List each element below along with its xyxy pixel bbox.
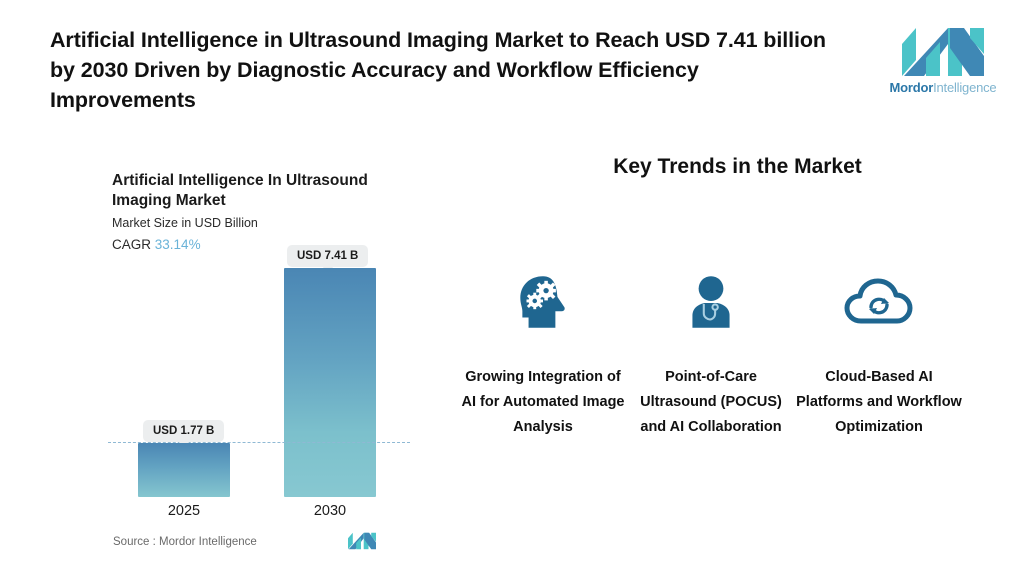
trend-label-1: Growing Integration of AI for Automated … — [458, 365, 628, 440]
trend-item-3: Cloud-Based AI Platforms and Workflow Op… — [794, 265, 964, 440]
doctor-stethoscope-icon — [626, 265, 796, 341]
cloud-sync-icon — [794, 265, 964, 341]
head-gears-ai-icon — [458, 265, 628, 341]
chart-source: Source : Mordor Intelligence — [113, 536, 257, 548]
trend-item-2: Point-of-Care Ultrasound (POCUS) and AI … — [626, 265, 796, 440]
source-mordor-intelligence-mark-icon — [348, 531, 376, 551]
page-header: Artificial Intelligence in Ultrasound Im… — [0, 0, 1035, 125]
trends-title: Key Trends in the Market — [440, 155, 1035, 179]
trend-label-2: Point-of-Care Ultrasound (POCUS) and AI … — [626, 365, 796, 440]
bar-2025[interactable] — [138, 443, 230, 497]
chart-panel: Artificial Intelligence In Ultrasound Im… — [0, 125, 440, 570]
brand-name: MordorIntelligence — [878, 80, 1008, 95]
x-axis-label-2030: 2030 — [260, 503, 400, 519]
trends-panel: Key Trends in the Market — [440, 125, 1035, 570]
trend-item-1: Growing Integration of AI for Automated … — [458, 265, 628, 440]
page-title: Artificial Intelligence in Ultrasound Im… — [50, 25, 850, 115]
mordor-intelligence-mark-icon — [902, 28, 984, 76]
x-axis-label-2025: 2025 — [114, 503, 254, 519]
brand-name-bold: Mordor — [890, 80, 934, 95]
brand-name-light: Intelligence — [933, 80, 996, 95]
bar-2030[interactable] — [284, 268, 376, 497]
bar-value-badge-2025: USD 1.77 B — [143, 420, 224, 442]
brand-logo: MordorIntelligence — [878, 28, 1008, 100]
bar-chart-plot: USD 7.41 B USD 1.77 B 2025 2030 — [0, 125, 440, 570]
bar-value-badge-2030: USD 7.41 B — [287, 245, 368, 267]
trend-label-3: Cloud-Based AI Platforms and Workflow Op… — [794, 365, 964, 440]
